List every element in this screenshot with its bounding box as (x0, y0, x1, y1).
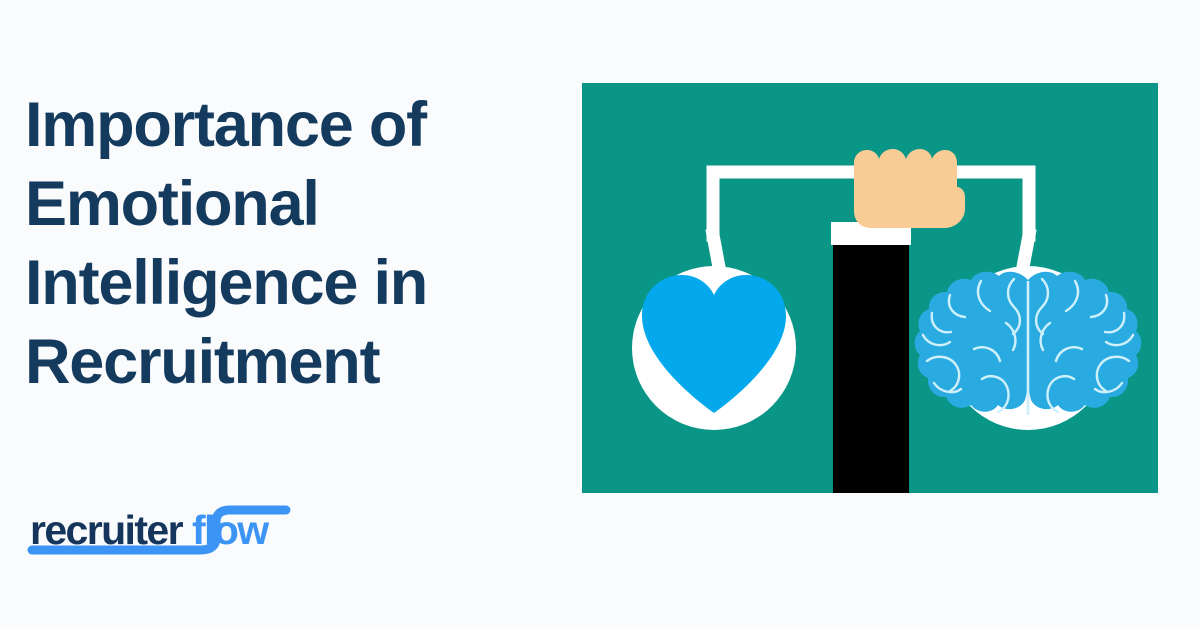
left-pan (632, 266, 796, 430)
logo-word-flow: flow (192, 507, 269, 553)
recruiterflow-logo[interactable]: recruiter flow (24, 496, 294, 564)
fist-hand (854, 149, 965, 228)
page-title: Importance of Emotional Intelligence in … (25, 86, 545, 402)
fist-shape (854, 149, 965, 228)
hanger-left-drop (713, 235, 719, 267)
sleeve-shape (833, 238, 909, 493)
logo-word-recruiter: recruiter (30, 507, 184, 553)
social-share-banner: Importance of Emotional Intelligence in … (0, 0, 1200, 628)
balance-scale-illustration (582, 83, 1158, 493)
hero-illustration (582, 83, 1158, 493)
recruiterflow-logo-mark: recruiter flow (24, 496, 294, 564)
hanger-right-drop (1023, 235, 1029, 267)
